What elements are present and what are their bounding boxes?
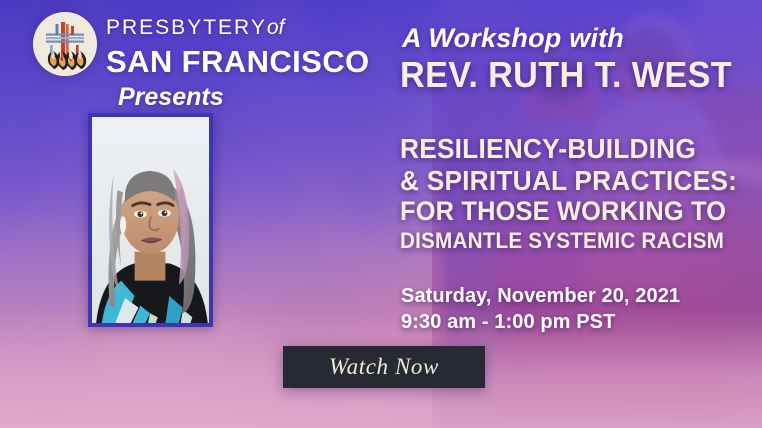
watch-now-button[interactable]: Watch Now	[283, 346, 485, 388]
event-title-line-3: FOR THOSE WORKING TO	[400, 197, 729, 226]
event-promo-banner: PRESBYTERYof SAN FRANCISCO Presents	[0, 0, 762, 428]
event-title-line-1: RESILIENCY-BUILDING	[400, 134, 729, 164]
workshop-intro-text: A Workshop with	[402, 23, 624, 54]
event-title-line-2: & SPIRITUAL PRACTICES:	[400, 166, 729, 196]
org-name-line1: PRESBYTERYof	[106, 16, 284, 40]
event-title: RESILIENCY-BUILDING & SPIRITUAL PRACTICE…	[400, 134, 750, 252]
org-of-word: of	[267, 16, 285, 39]
speaker-name: REV. RUTH T. WEST	[400, 54, 732, 96]
event-title-line-4: DISMANTLE SYSTEMIC RACISM	[400, 229, 729, 252]
presbyterian-cross-flame-logo-icon	[33, 12, 97, 76]
event-date: Saturday, November 20, 2021	[401, 283, 680, 309]
org-name-line2: SAN FRANCISCO	[106, 44, 370, 80]
watch-now-label: Watch Now	[329, 354, 439, 380]
speaker-portrait	[88, 113, 213, 327]
presents-label: Presents	[118, 83, 224, 112]
org-presbytery-word: PRESBYTERY	[106, 16, 267, 39]
event-datetime: Saturday, November 20, 2021 9:30 am - 1:…	[401, 283, 680, 336]
event-time: 9:30 am - 1:00 pm PST	[401, 309, 680, 335]
